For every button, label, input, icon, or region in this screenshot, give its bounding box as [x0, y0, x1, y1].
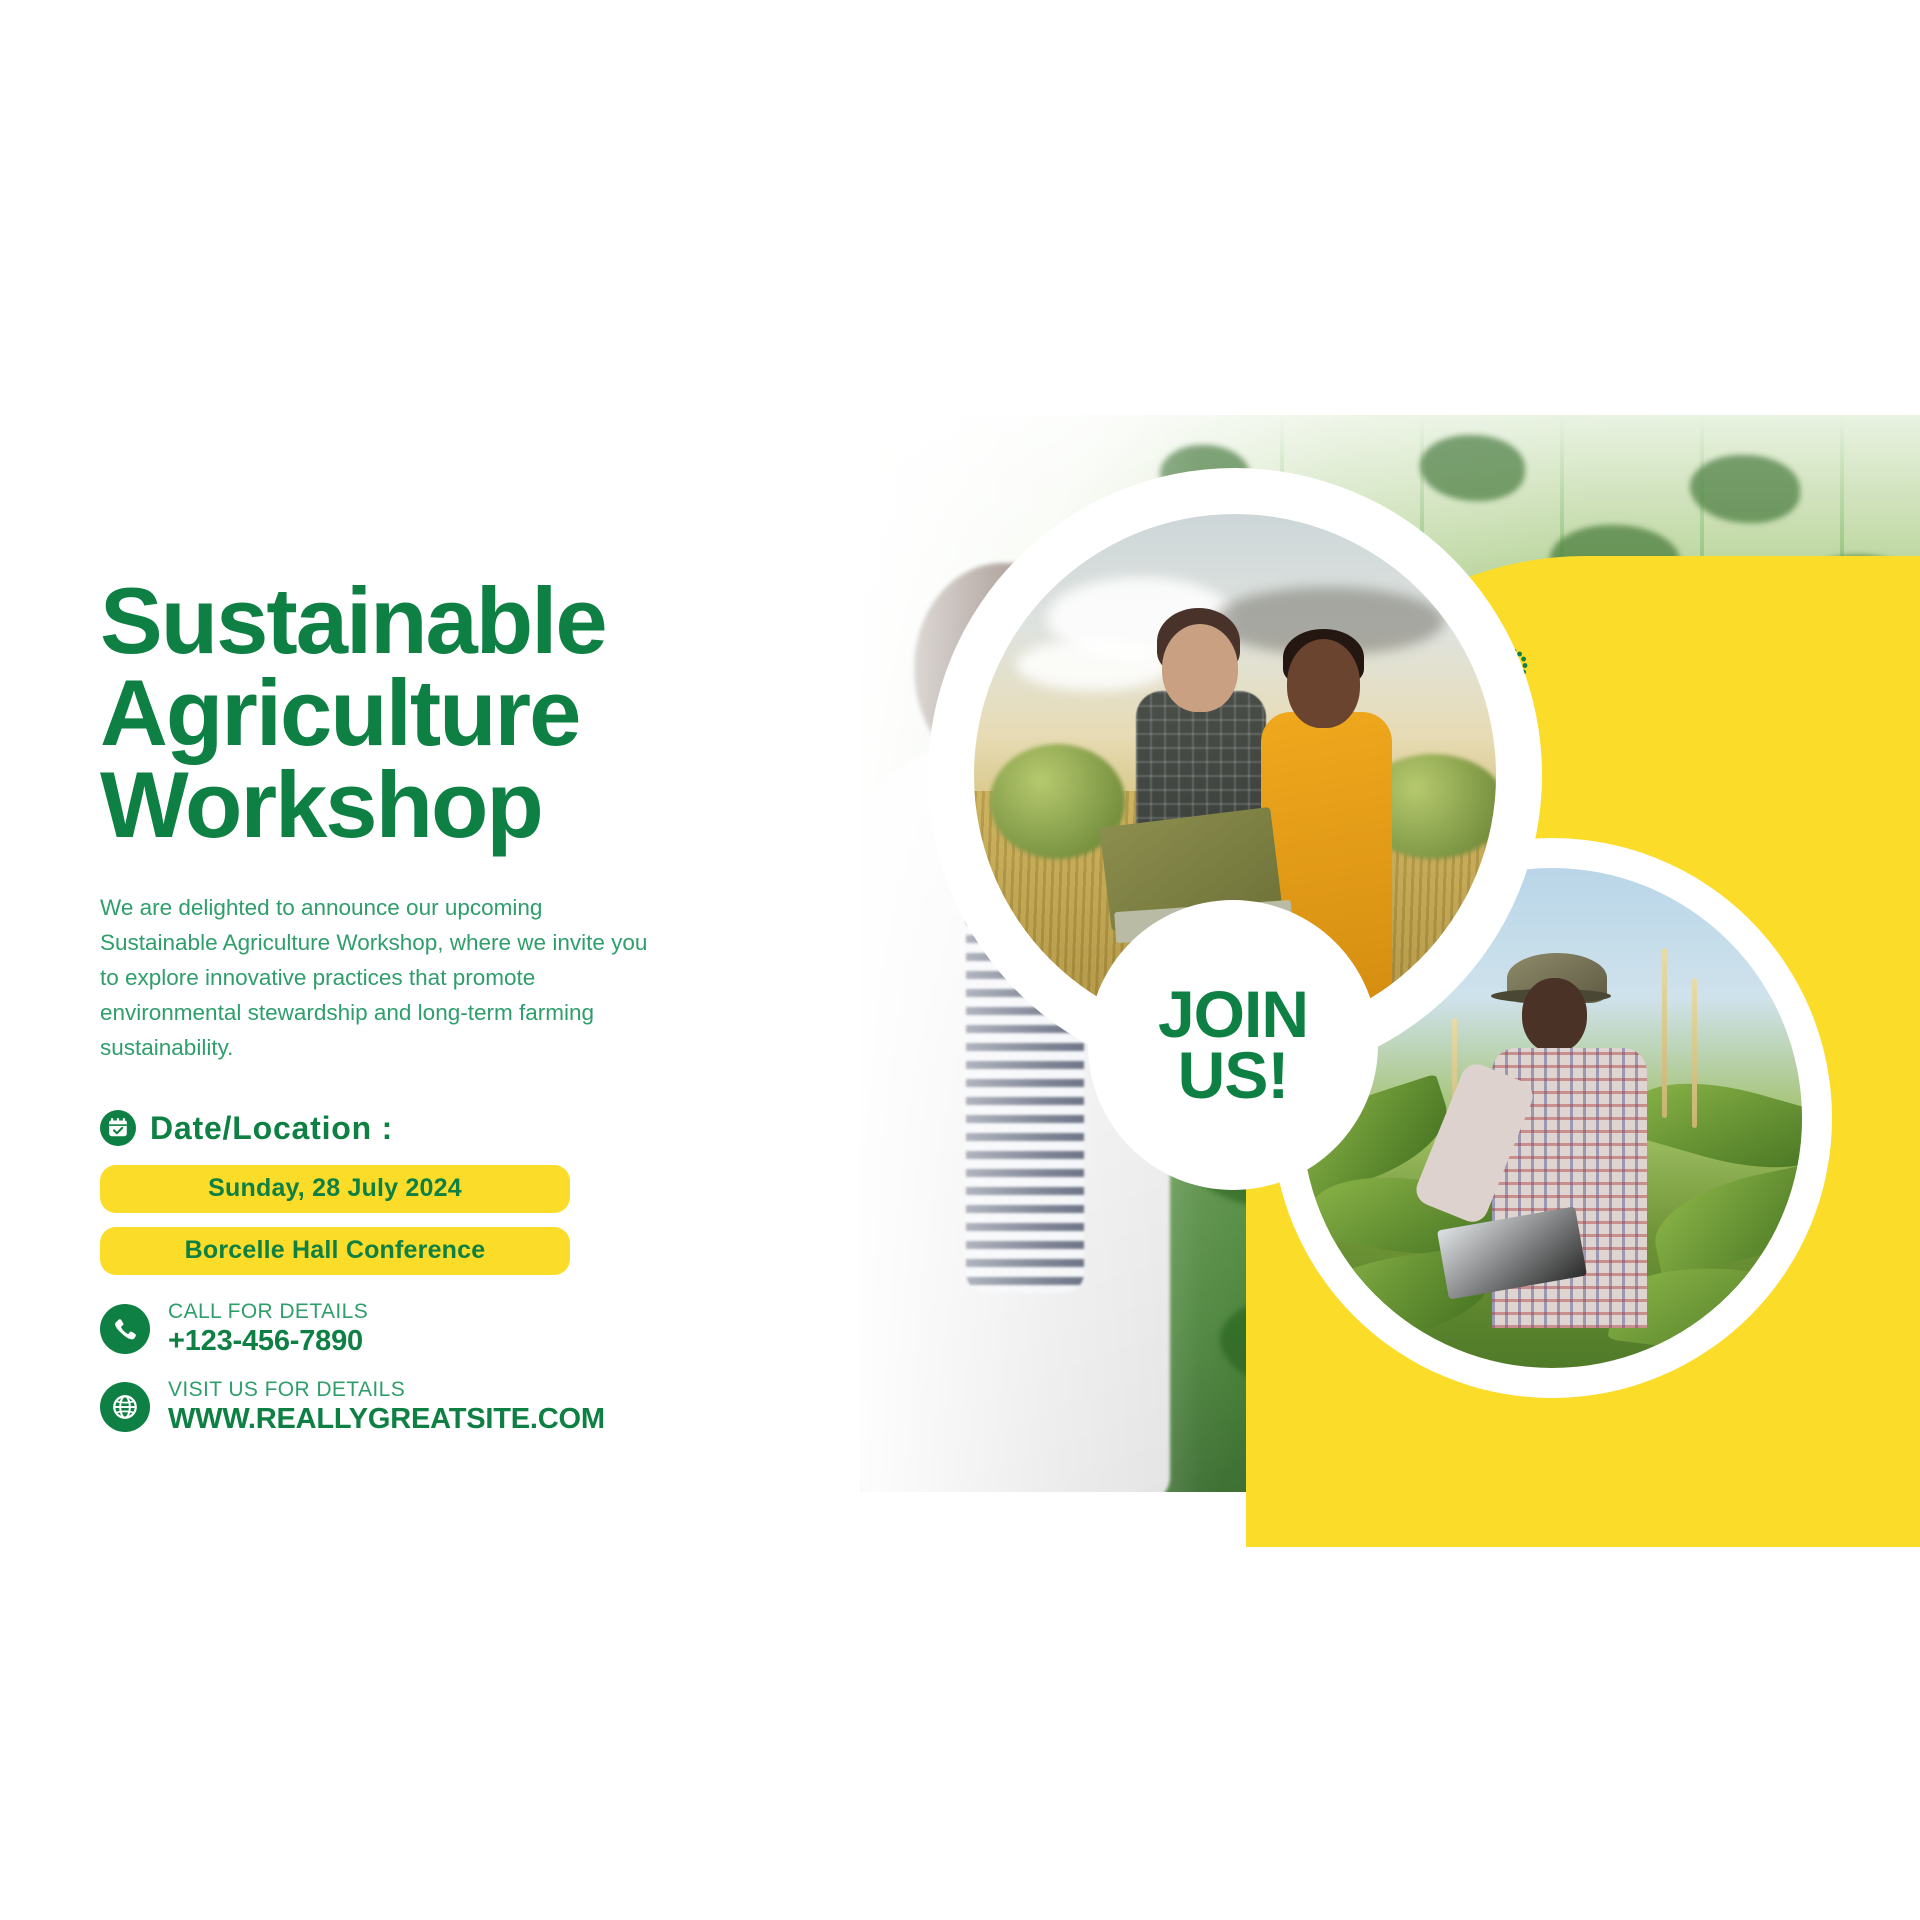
artwork-region: JOIN US! — [860, 0, 1920, 1920]
phone-icon — [100, 1304, 150, 1354]
contact-website[interactable]: VISIT US FOR DETAILS WWW.REALLYGREATSITE… — [100, 1379, 760, 1435]
join-us-line2: US! — [1158, 1045, 1308, 1106]
intro-paragraph: We are delighted to announce our upcomin… — [100, 891, 660, 1065]
date-location-label: Date/Location : — [150, 1110, 393, 1147]
join-us-callout[interactable]: JOIN US! — [1088, 900, 1378, 1190]
page-title: Sustainable Agriculture Workshop — [100, 575, 760, 851]
join-us-text: JOIN US! — [1158, 984, 1308, 1105]
poster-canvas: JOIN US! Sustainable Agriculture Worksho… — [0, 0, 1920, 1920]
content-column: Sustainable Agriculture Workshop We are … — [100, 575, 760, 1435]
calendar-check-icon — [100, 1110, 136, 1146]
phone-number: +123-456-7890 — [168, 1326, 368, 1357]
join-us-line1: JOIN — [1158, 984, 1308, 1045]
contact-phone[interactable]: CALL FOR DETAILS +123-456-7890 — [100, 1301, 760, 1357]
website-url: WWW.REALLYGREATSITE.COM — [168, 1404, 605, 1435]
globe-icon — [100, 1382, 150, 1432]
headline-line-2: Agriculture — [100, 667, 760, 759]
website-caption: VISIT US FOR DETAILS — [168, 1379, 605, 1401]
headline-line-1: Sustainable — [100, 575, 760, 667]
date-location-header: Date/Location : — [100, 1110, 760, 1147]
venue-badge[interactable]: Borcelle Hall Conference — [100, 1227, 570, 1275]
date-badge[interactable]: Sunday, 28 July 2024 — [100, 1165, 570, 1213]
headline-line-3: Workshop — [100, 759, 760, 851]
phone-caption: CALL FOR DETAILS — [168, 1301, 368, 1323]
